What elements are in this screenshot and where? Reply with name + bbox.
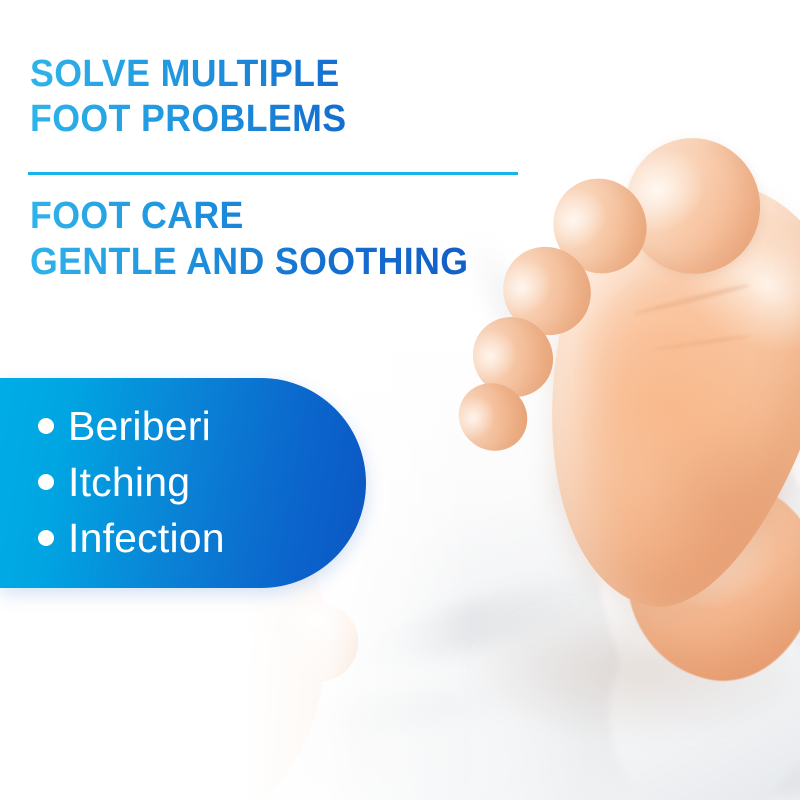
headline-line-1: SOLVE MULTIPLE [30,52,519,97]
subhead-line-1: FOOT CARE [30,193,538,239]
list-item: Itching [38,454,225,510]
subhead-line-2: GENTLE AND SOOTHING [30,239,538,285]
foot-arch-shadow [645,420,795,590]
headline-block: SOLVE MULTIPLE FOOT PROBLEMS [30,52,550,142]
bullet-dot-icon [38,418,54,434]
subhead-block: FOOT CARE GENTLE AND SOOTHING [30,193,570,285]
promo-poster: SOLVE MULTIPLE FOOT PROBLEMS FOOT CARE G… [0,0,800,800]
benefit-label: Itching [68,454,190,510]
benefits-badge: Beriberi Itching Infection [0,378,366,588]
divider-rule [28,172,518,175]
benefit-label: Beriberi [68,398,211,454]
list-item: Beriberi [38,398,225,454]
headline-line-2: FOOT PROBLEMS [30,97,519,142]
benefit-label: Infection [68,510,225,566]
list-item: Infection [38,510,225,566]
bullet-dot-icon [38,474,54,490]
benefits-list: Beriberi Itching Infection [38,398,225,566]
bullet-dot-icon [38,530,54,546]
